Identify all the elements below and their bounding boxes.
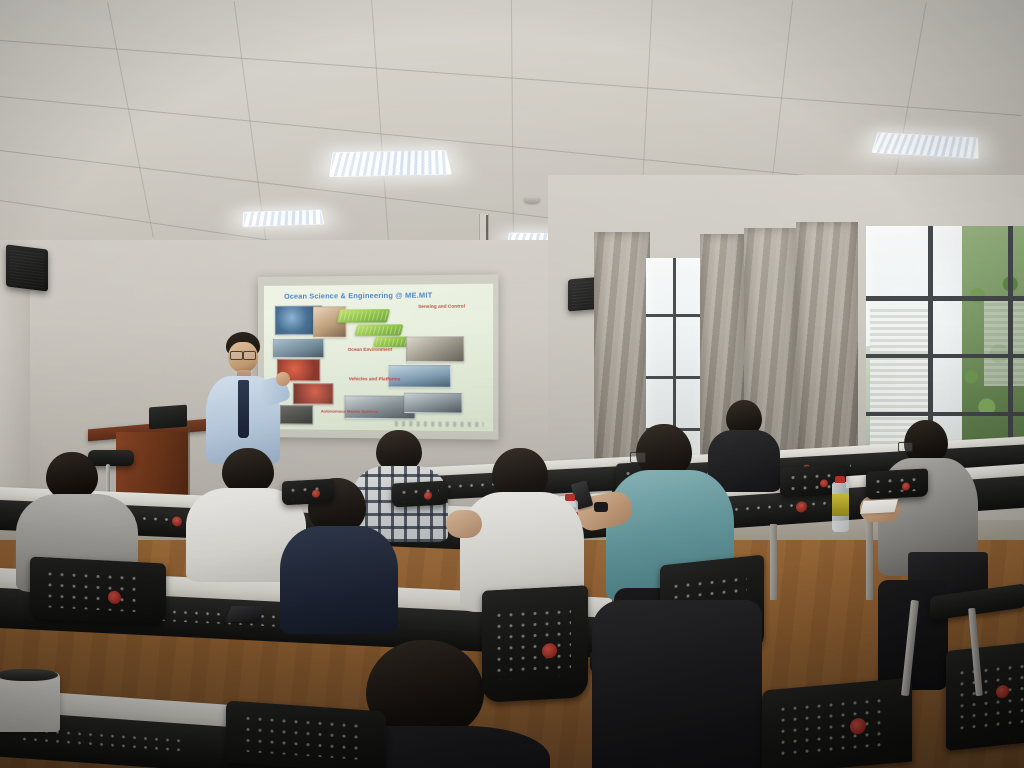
slide-image-thermal-2 (293, 383, 333, 404)
chair-back[interactable] (946, 641, 1024, 751)
glasses-icon (230, 351, 243, 360)
chair-back[interactable] (866, 468, 928, 499)
chair-logo (108, 591, 121, 605)
slide-footer-graphic (395, 421, 484, 427)
chair-back[interactable] (392, 481, 448, 508)
bottle-label (832, 494, 849, 516)
desk-leg (770, 524, 777, 600)
slide-label-ocean-env: Ocean Environment (331, 347, 409, 353)
chair-logo (996, 684, 1009, 698)
slide-label-sensing-heading: Sensing and Control (418, 303, 465, 308)
classroom-photo: Ocean Science & Engineering @ ME.MIT Sen… (0, 0, 1024, 768)
slide-label-vehicles: Vehicles and Platforms (333, 376, 415, 382)
projection-screen: Ocean Science & Engineering @ ME.MIT Sen… (258, 274, 498, 439)
paper-sheet (860, 499, 898, 514)
presenter-hand (276, 372, 290, 386)
glasses-icon (243, 351, 256, 360)
presenter-necktie (238, 380, 249, 438)
ceiling-light-panel (871, 132, 978, 158)
slide-graphic-green-3 (373, 337, 410, 347)
slide-graphic-green-1 (336, 309, 389, 322)
chair-back[interactable] (226, 700, 386, 768)
smartphone-on-desk[interactable] (225, 606, 265, 622)
chair-logo (902, 482, 910, 490)
curtain-far-right-panel (796, 222, 858, 478)
slide-label-ocean-env-heading: Ocean Environment (348, 347, 393, 352)
desk-logo (796, 501, 807, 513)
chair-back[interactable] (762, 677, 912, 768)
slide-label-autonomous: Autonomous Marine Systems (309, 408, 391, 414)
slide-label-autonomous-heading: Autonomous Marine Systems (321, 408, 378, 413)
chair-back[interactable] (282, 479, 334, 506)
bottle-cap (835, 476, 845, 483)
presenter (196, 330, 292, 462)
slide-label-vehicles-heading: Vehicles and Platforms (349, 376, 401, 381)
chair-logo (312, 489, 320, 497)
white-tshirt-student (460, 448, 586, 608)
right-foreground-student (592, 600, 762, 768)
podium-monitor (149, 405, 187, 430)
slide-image-ship-2 (404, 393, 462, 414)
chair-back[interactable] (30, 556, 166, 625)
torso (592, 600, 762, 768)
glasses-icon (898, 442, 913, 452)
slide-label-sensing: Sensing and Control (400, 303, 484, 309)
chair-logo (542, 643, 557, 659)
slide-image-lab (407, 337, 465, 363)
desk-leg (866, 520, 873, 600)
ceiling-light-panel (242, 210, 324, 227)
trash-bin (0, 672, 60, 732)
chair-back[interactable] (482, 585, 588, 703)
wristwatch (594, 502, 608, 512)
desk-logo (172, 516, 182, 526)
presentation-slide: Ocean Science & Engineering @ ME.MIT Sen… (264, 284, 493, 432)
head (46, 452, 98, 500)
wall-speaker-left (6, 244, 48, 291)
chair-logo (424, 491, 432, 499)
glasses-icon (630, 452, 646, 463)
smoke-detector-icon (524, 196, 540, 203)
chair-logo (850, 717, 866, 734)
trash-bin-lid (0, 669, 58, 681)
slide-graphic-green-2 (355, 324, 404, 336)
ceiling-light-panel (329, 150, 452, 177)
torso (280, 526, 398, 634)
arm (446, 510, 482, 538)
slide-title: Ocean Science & Engineering @ ME.MIT (284, 290, 481, 301)
chair-logo (820, 479, 828, 487)
